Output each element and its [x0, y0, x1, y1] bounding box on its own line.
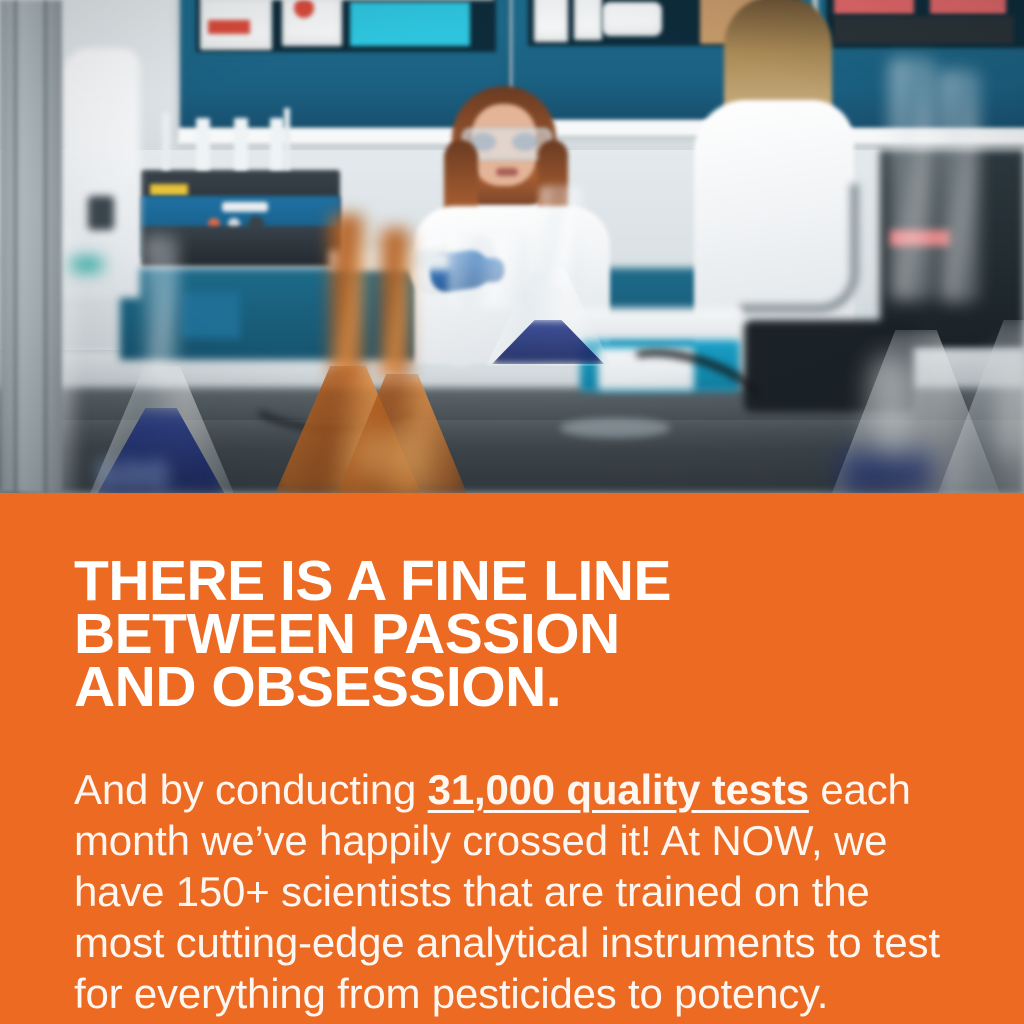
column-seam: [44, 0, 47, 493]
instrument-indicator: [150, 184, 188, 196]
orange-text-panel: THERE IS A FINE LINE BETWEEN PASSION AND…: [0, 493, 1024, 1024]
hose-strap: [740, 184, 859, 313]
pipette: [162, 112, 170, 170]
body-copy: And by conducting 31,000 quality tests e…: [74, 764, 954, 1019]
glassware-right-tall-2: [940, 70, 978, 302]
flask-amber-neck-2: [380, 228, 410, 380]
glass-marking-teal: [72, 258, 102, 271]
structural-column: [0, 0, 62, 493]
scientist-center-mouth: [496, 168, 518, 176]
test-tube: [270, 118, 284, 170]
cabinet-item-bottle: [602, 2, 662, 36]
goggle-lens-right: [512, 133, 538, 151]
column-seam: [14, 0, 17, 493]
glass-highlight: [992, 350, 1024, 460]
instrument-display: [222, 202, 268, 212]
lab-photo: 500: [0, 0, 1024, 493]
petri-dish: [560, 418, 670, 438]
cabinet-item-cyan: [350, 2, 470, 46]
scientist-left-hand: [88, 196, 114, 230]
cabinet-item-red: [834, 0, 914, 14]
glassware-right-tall-1: [890, 58, 934, 300]
flask-clear-right-liquid: [838, 452, 934, 493]
test-tube: [196, 118, 210, 170]
body-copy-before: And by conducting: [74, 766, 428, 813]
cabinet-item-label: [208, 20, 250, 34]
highlight-quality-tests: 31,000 quality tests: [428, 766, 809, 813]
cabinet-item-box: [574, 0, 602, 40]
flask-volume-label: 500: [96, 452, 190, 492]
flask-amber-highlight: [352, 430, 422, 482]
pipette: [284, 108, 290, 170]
flask-blue-neck: [146, 236, 176, 384]
poster: 500 THERE IS A FINE LINE BETWEEN PASSION…: [0, 0, 1024, 1024]
bench-accent-blue: [182, 292, 240, 338]
flask-amber-neck-1: [330, 214, 364, 382]
test-tube: [234, 118, 248, 170]
page-title: THERE IS A FINE LINE BETWEEN PASSION AND…: [74, 555, 954, 714]
cabinet-item-box: [534, 0, 568, 42]
cabinet-item-red: [930, 0, 1006, 14]
beaker-small: [448, 236, 530, 308]
glass-highlight: [870, 356, 912, 452]
cabinet-item-dark: [834, 16, 1014, 44]
